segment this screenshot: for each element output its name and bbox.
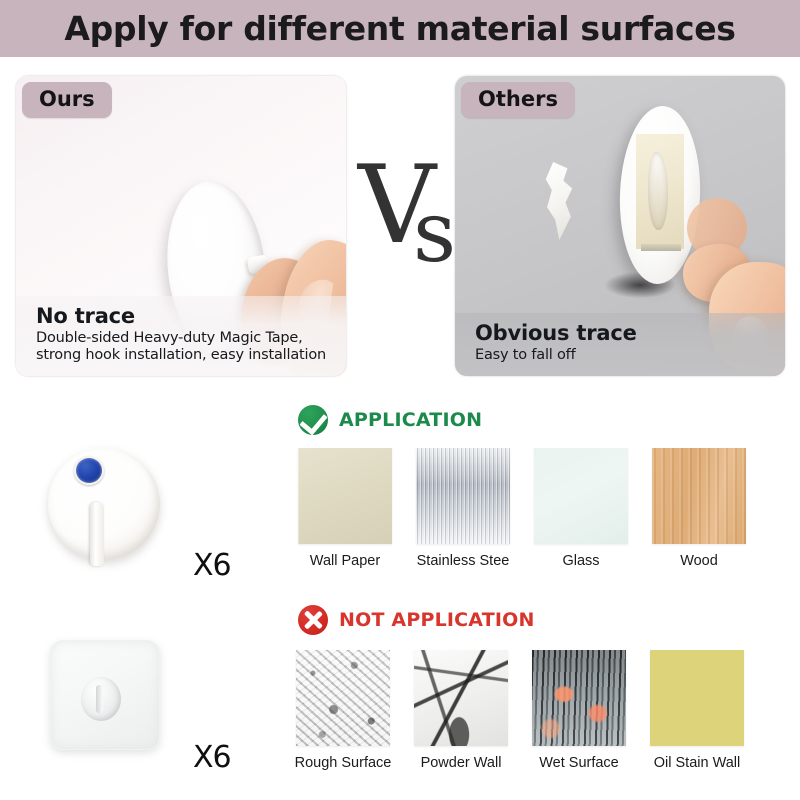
caption-title-ours: No trace — [16, 304, 346, 330]
swatch-caption: Powder Wall — [412, 755, 510, 771]
swatch-item: Stainless Stee — [414, 448, 512, 569]
panel-tab-others: Others — [461, 82, 575, 118]
square-hook-knob — [81, 677, 121, 721]
comparison-panel-ours: No trace Double-sided Heavy-duty Magic T… — [16, 76, 346, 376]
swatch-caption: Wall Paper — [296, 553, 394, 569]
product-square-hook — [50, 640, 160, 750]
quantity-label-round: X6 — [193, 548, 231, 583]
product-round-hook — [48, 448, 160, 560]
powder-wall-swatch — [414, 650, 508, 746]
comparison-panel-others: Obvious trace Easy to fall off — [455, 76, 785, 376]
glass-swatch — [534, 448, 628, 544]
panel-tab-ours: Ours — [22, 82, 112, 118]
blue-dot-badge — [74, 456, 104, 485]
x-circle-icon — [298, 605, 328, 635]
hook-stem — [90, 502, 104, 566]
caption-others: Obvious trace Easy to fall off — [455, 313, 785, 376]
caption-title-others: Obvious trace — [455, 321, 785, 347]
swatch-item: Wood — [650, 448, 748, 569]
caption-ours: No trace Double-sided Heavy-duty Magic T… — [16, 296, 346, 376]
rough-surface-swatch — [296, 650, 390, 746]
swatch-item: Powder Wall — [412, 650, 510, 771]
swatch-caption: Oil Stain Wall — [648, 755, 746, 771]
caption-sub-others: Easy to fall off — [455, 347, 785, 364]
swatch-caption: Glass — [532, 553, 630, 569]
caption-sub-ours: Double-sided Heavy-duty Magic Tape, stro… — [16, 330, 346, 364]
swatch-item: Wet Surface — [530, 650, 628, 771]
section-label-not-application: NOT APPLICATION — [339, 609, 535, 631]
check-circle-icon — [298, 405, 328, 435]
stainless-steel-swatch — [416, 448, 510, 544]
swatch-caption: Stainless Stee — [414, 553, 512, 569]
oil-stain-wall-swatch — [650, 650, 744, 746]
swatch-item: Glass — [532, 448, 630, 569]
swatch-caption: Wet Surface — [530, 755, 628, 771]
wet-surface-swatch — [532, 650, 626, 746]
quantity-label-square: X6 — [193, 740, 231, 775]
swatch-item: Oil Stain Wall — [648, 650, 746, 771]
swatch-row-application: Wall Paper Stainless Stee Glass Wood — [296, 448, 748, 569]
wallpaper-swatch — [298, 448, 392, 544]
section-header-application: APPLICATION — [298, 405, 482, 435]
page-title: Apply for different material surfaces — [0, 5, 800, 53]
wood-swatch — [652, 448, 746, 544]
vs-letter-s: s — [413, 190, 456, 274]
section-header-not-application: NOT APPLICATION — [298, 605, 535, 635]
vs-divider: V s — [358, 152, 454, 282]
swatch-caption: Rough Surface — [294, 755, 392, 771]
wall-residue-photo — [543, 162, 577, 240]
swatch-item: Rough Surface — [294, 650, 392, 771]
swatch-item: Wall Paper — [296, 448, 394, 569]
swatch-caption: Wood — [650, 553, 748, 569]
swatch-row-not-application: Rough Surface Powder Wall Wet Surface Oi… — [294, 650, 746, 771]
section-label-application: APPLICATION — [339, 409, 482, 431]
